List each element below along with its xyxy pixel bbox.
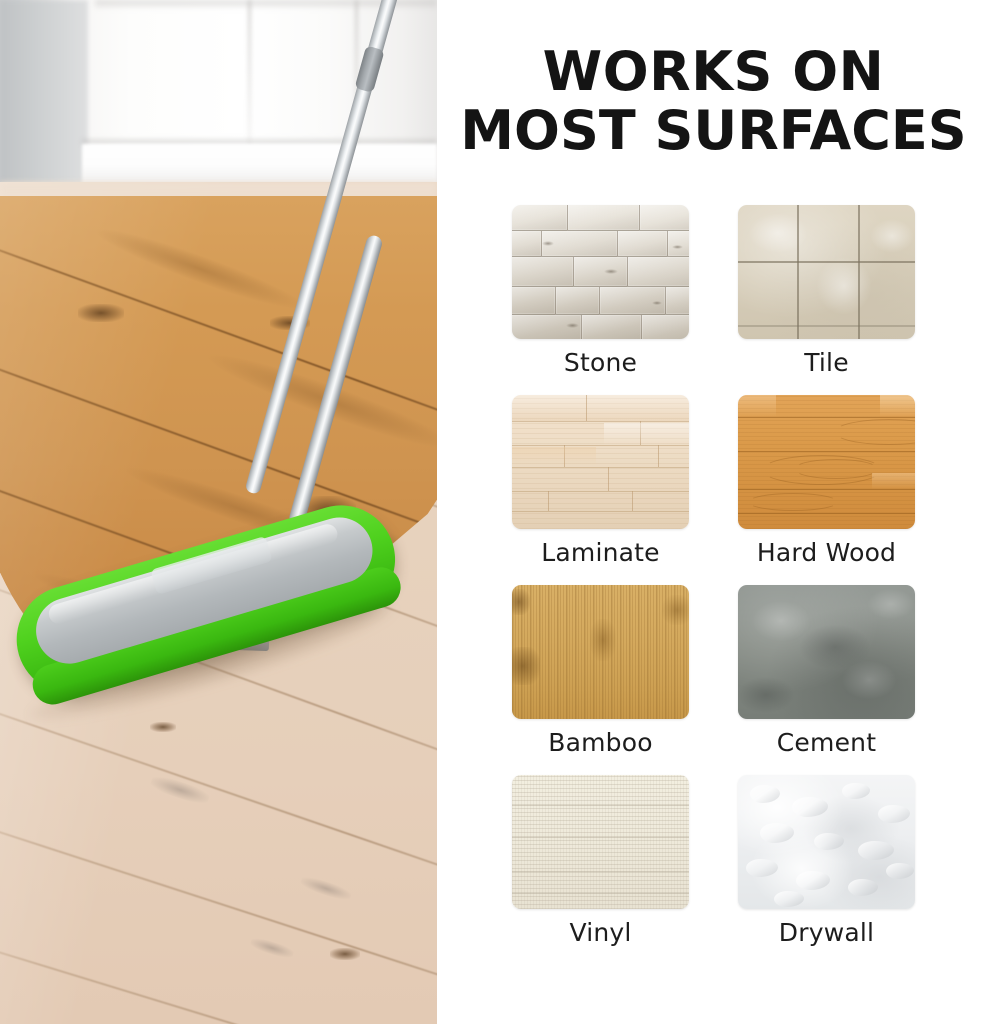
surface-label-bamboo: Bamboo <box>512 728 689 757</box>
surface-item-tile: Tile <box>738 205 915 377</box>
surface-swatch-bamboo <box>512 585 689 719</box>
surface-label-laminate: Laminate <box>512 538 689 567</box>
surface-swatch-laminate <box>512 395 689 529</box>
surface-label-drywall: Drywall <box>738 918 915 947</box>
surface-swatch-tile <box>738 205 915 339</box>
surface-label-stone: Stone <box>512 348 689 377</box>
surface-item-cement: Cement <box>738 585 915 757</box>
surface-swatch-vinyl <box>512 775 689 909</box>
mop-pole-lower <box>288 234 384 527</box>
headline-line-1: WORKS ON <box>437 42 990 101</box>
mop-head <box>4 492 415 727</box>
surface-swatch-drywall <box>738 775 915 909</box>
surface-label-hardwood: Hard Wood <box>738 538 915 567</box>
page-title: WORKS ON MOST SURFACES <box>437 42 990 161</box>
surface-label-tile: Tile <box>738 348 915 377</box>
surface-item-hardwood: Hard Wood <box>738 395 915 567</box>
surface-label-vinyl: Vinyl <box>512 918 689 947</box>
surface-grid: Stone Tile <box>468 205 959 947</box>
flat-mop <box>0 0 437 1024</box>
product-photo-panel <box>0 0 437 1024</box>
surface-label-cement: Cement <box>738 728 915 757</box>
surface-item-drywall: Drywall <box>738 775 915 947</box>
surface-swatch-hardwood <box>738 395 915 529</box>
surface-item-stone: Stone <box>512 205 689 377</box>
surface-item-laminate: Laminate <box>512 395 689 567</box>
surface-item-vinyl: Vinyl <box>512 775 689 947</box>
headline-line-2: MOST SURFACES <box>437 101 990 160</box>
surfaces-content-panel: WORKS ON MOST SURFACES <box>437 0 990 1024</box>
surface-item-bamboo: Bamboo <box>512 585 689 757</box>
surface-swatch-stone <box>512 205 689 339</box>
mop-pole-collar <box>355 45 385 92</box>
works-on-most-surfaces-infographic: WORKS ON MOST SURFACES <box>0 0 990 1024</box>
surface-swatch-cement <box>738 585 915 719</box>
